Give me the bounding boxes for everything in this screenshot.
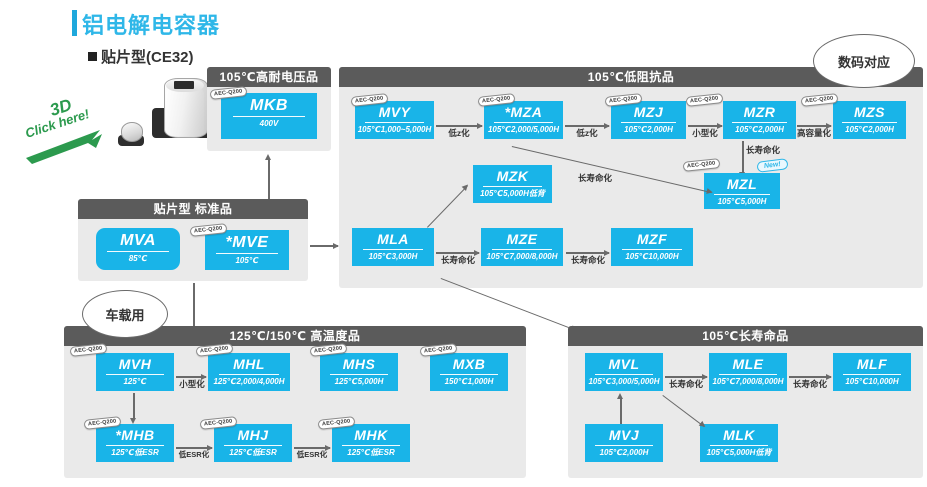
product-box-mvh[interactable]: MVH 125℃	[96, 353, 174, 391]
arrow-label-mla-mze: 长寿命化	[430, 254, 486, 266]
green-arrow-icon	[22, 96, 112, 168]
group-long-life-header: 105℃长寿命品	[568, 326, 923, 346]
arrow-label-mvh-mhl: 小型化	[172, 378, 212, 390]
product-box-mvl[interactable]: MVL 105℃3,000/5,000H	[585, 353, 663, 391]
group-standard-header: 贴片型 标准品	[78, 199, 308, 219]
product-box-mvj[interactable]: MVJ 105℃2,000H	[585, 424, 663, 462]
product-box-mhk[interactable]: MHK 125℃低ESR	[332, 424, 410, 462]
product-code: MZF	[611, 231, 693, 248]
group-high-voltage-header: 105℃高耐电压品	[207, 67, 331, 87]
bubble-digital: 数码对应	[813, 34, 915, 88]
product-spec: 105℃7,000/8,000H	[709, 377, 787, 387]
product-spec: 150℃1,000H	[430, 377, 508, 387]
product-spec: 105℃1,000~5,000H	[355, 125, 434, 135]
product-code: MZJ	[611, 104, 686, 121]
square-bullet-icon	[88, 52, 97, 61]
product-code: MHL	[208, 356, 290, 373]
product-code: MHS	[320, 356, 398, 373]
arrow-standard-to-lowimpedance	[310, 245, 338, 247]
product-code: *MHB	[96, 427, 174, 444]
product-code: MLF	[833, 356, 911, 373]
product-code: MZK	[473, 168, 552, 185]
arrow-label-mzj-mzr: 小型化	[686, 127, 724, 139]
arrow-label-mzr-mzs: 高容量化	[791, 127, 837, 139]
product-code: MLA	[352, 231, 434, 248]
product-code: MVY	[355, 104, 434, 121]
product-spec: 125℃2,000/4,000H	[208, 377, 290, 387]
product-code: MVH	[96, 356, 174, 373]
product-code: MZE	[481, 231, 563, 248]
page-subtitle: 贴片型(CE32)	[88, 46, 194, 67]
page-title: 铝电解电容器	[70, 8, 220, 40]
product-box-mzl[interactable]: MZL 105℃5,000H	[704, 173, 780, 209]
product-box-mlf[interactable]: MLF 105℃10,000H	[833, 353, 911, 391]
product-box-mzk[interactable]: MZK 105℃5,000H低背	[473, 165, 552, 203]
product-code: MHK	[332, 427, 410, 444]
diagram-root: 铝电解电容器 贴片型(CE32) 3D Click here! 数码对应 105…	[0, 0, 927, 487]
product-code: *MZA	[484, 104, 563, 121]
product-spec: 105℃2,000H	[723, 125, 796, 135]
product-box-mzr[interactable]: MZR 105℃2,000H	[723, 101, 796, 139]
product-spec: 105℃2,000H	[833, 125, 906, 135]
product-spec: 125℃低ESR	[214, 448, 292, 458]
product-code: MLE	[709, 356, 787, 373]
arrow-label-mze-mzf: 长寿命化	[560, 254, 616, 266]
product-spec: 105℃2,000H	[611, 125, 686, 135]
arrow-mvj-mvl	[620, 398, 622, 424]
product-spec: 125℃低ESR	[332, 448, 410, 458]
product-spec: 105℃3,000H	[352, 252, 434, 262]
page-subtitle-text: 贴片型(CE32)	[101, 49, 194, 66]
product-spec: 105℃5,000H低背	[700, 448, 778, 458]
product-code: MVL	[585, 356, 663, 373]
product-spec: 125℃低ESR	[96, 448, 174, 458]
product-code: *MVE	[205, 233, 289, 252]
product-box-mlk[interactable]: MLK 105℃5,000H低背	[700, 424, 778, 462]
product-box-mla[interactable]: MLA 105℃3,000H	[352, 228, 434, 266]
product-code: MXB	[430, 356, 508, 373]
product-box-mzf[interactable]: MZF 105℃10,000H	[611, 228, 693, 266]
product-code: MZL	[704, 176, 780, 193]
product-code: MKB	[221, 96, 317, 115]
page-title-text: 铝电解电容器	[82, 8, 220, 40]
product-box-mva[interactable]: MVA 85℃	[96, 228, 180, 270]
bubble-digital-label: 数码对应	[838, 52, 890, 71]
arrow-mvh-mhb	[133, 393, 135, 419]
product-spec: 125℃5,000H	[320, 377, 398, 387]
product-box-mvy[interactable]: MVY 105℃1,000~5,000H	[355, 101, 434, 139]
product-box-mhs[interactable]: MHS 125℃5,000H	[320, 353, 398, 391]
product-box-mzs[interactable]: MZS 105℃2,000H	[833, 101, 906, 139]
arrow-label-mza-mzj: 低z化	[565, 127, 609, 139]
product-code: MLK	[700, 427, 778, 444]
product-spec: 105℃5,000H	[704, 197, 780, 207]
product-spec: 105℃7,000/8,000H	[481, 252, 563, 262]
product-spec: 105℃2,000/5,000H	[484, 125, 563, 135]
arrow-standard-to-highvoltage	[268, 159, 270, 201]
product-spec: 105℃10,000H	[833, 377, 911, 387]
product-spec: 125℃	[96, 377, 174, 387]
product-code: MHJ	[214, 427, 292, 444]
product-spec: 105℃	[205, 256, 289, 266]
product-code: MVJ	[585, 427, 663, 444]
arrow-mzr-mzl	[742, 141, 744, 173]
arrow-label-mle-mlf: 长寿命化	[783, 378, 837, 390]
product-spec: 85℃	[96, 254, 180, 264]
arrow-label-mhb-mhj: 低ESR化	[170, 449, 218, 460]
product-box-mza[interactable]: *MZA 105℃2,000/5,000H	[484, 101, 563, 139]
product-spec: 105℃2,000H	[585, 448, 663, 458]
product-box-mle[interactable]: MLE 105℃7,000/8,000H	[709, 353, 787, 391]
product-code: MZS	[833, 104, 906, 121]
arrow-label-mza-mzl: 长寿命化	[578, 172, 612, 184]
product-box-mkb[interactable]: MKB 400V	[221, 93, 317, 139]
product-spec: 105℃5,000H低背	[473, 189, 552, 199]
arrow-label-mzr-mzl: 长寿命化	[746, 144, 780, 156]
product-box-mze[interactable]: MZE 105℃7,000/8,000H	[481, 228, 563, 266]
product-box-mhl[interactable]: MHL 125℃2,000/4,000H	[208, 353, 290, 391]
3d-click-here-badge[interactable]: 3D Click here!	[22, 96, 112, 168]
arrow-label-mhj-mhk: 低ESR化	[288, 449, 336, 460]
product-box-mzj[interactable]: MZJ 105℃2,000H	[611, 101, 686, 139]
product-code: MVA	[96, 231, 180, 250]
arrow-label-mvl-mle: 长寿命化	[659, 378, 713, 390]
arrow-label-mvy-mza: 低z化	[436, 127, 482, 139]
product-spec: 105℃3,000/5,000H	[585, 377, 663, 387]
product-code: MZR	[723, 104, 796, 121]
product-box-mhb[interactable]: *MHB 125℃低ESR	[96, 424, 174, 462]
product-box-mxb[interactable]: MXB 150℃1,000H	[430, 353, 508, 391]
capacitor-photo-small	[118, 122, 144, 148]
product-box-mhj[interactable]: MHJ 125℃低ESR	[214, 424, 292, 462]
product-spec: 105℃10,000H	[611, 252, 693, 262]
bubble-automotive: 车载用	[82, 290, 168, 338]
product-box-mve[interactable]: *MVE 105℃	[205, 230, 289, 270]
product-spec: 400V	[221, 119, 317, 129]
bubble-automotive-label: 车载用	[105, 305, 144, 324]
